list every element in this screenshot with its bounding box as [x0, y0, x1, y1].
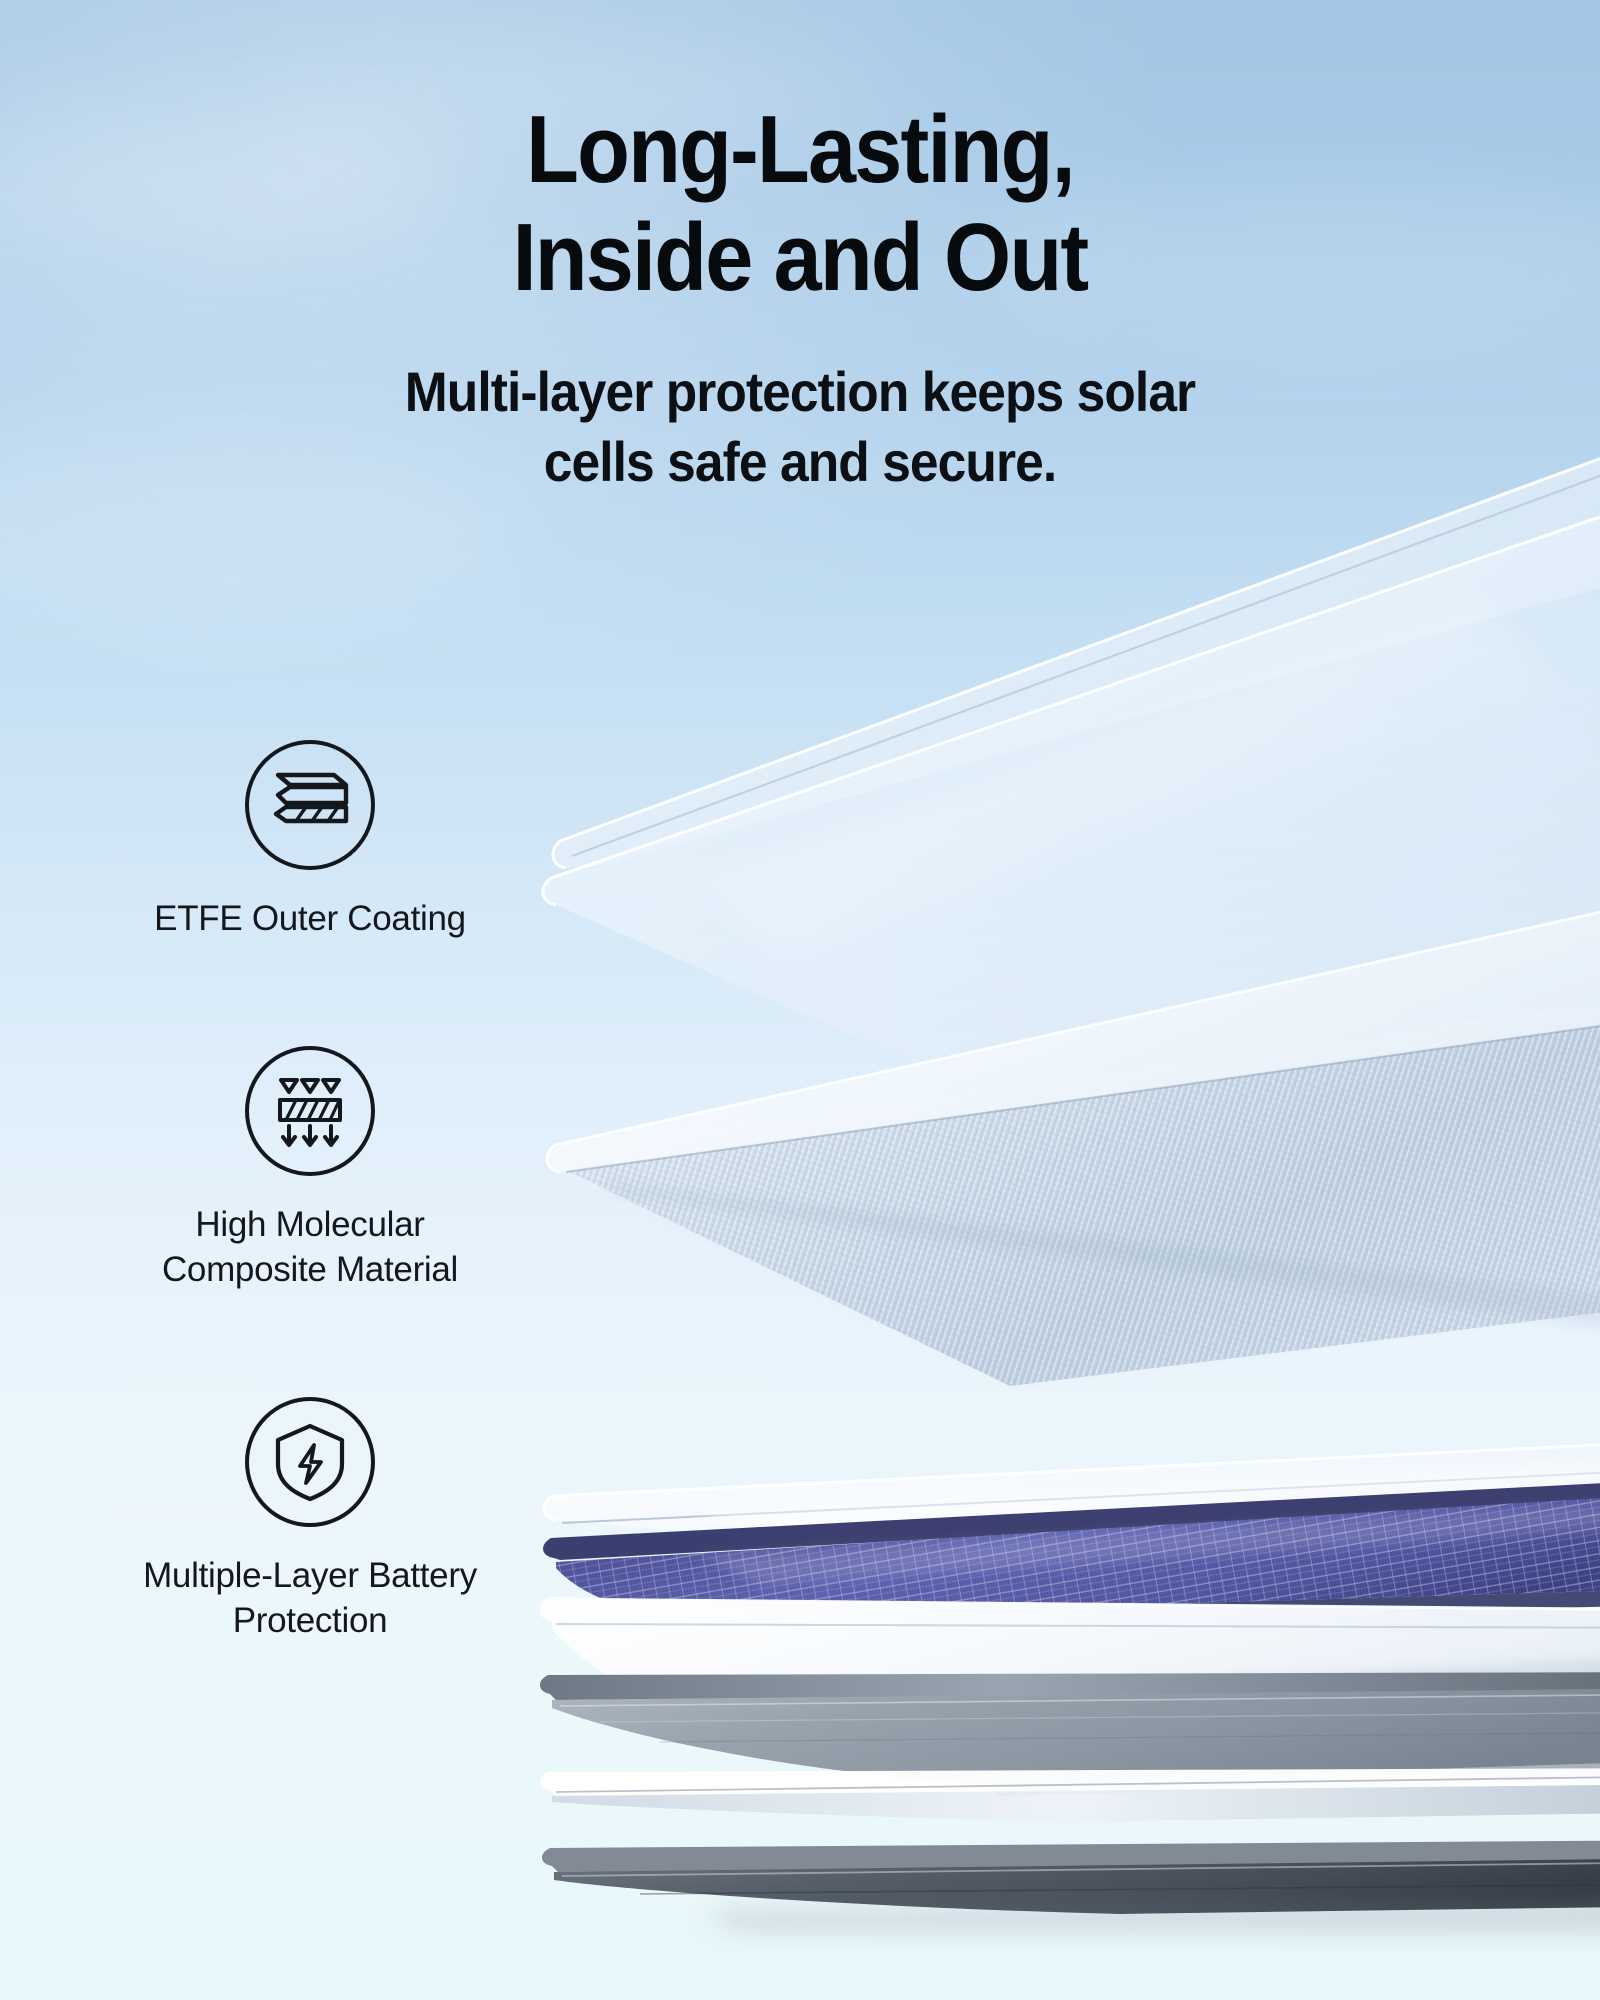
- page-title: Long-Lasting, Inside and Out: [80, 96, 1520, 313]
- page-subtitle: Multi-layer protection keeps solar cells…: [64, 357, 1536, 497]
- subhead-line-2: cells safe and secure.: [64, 427, 1536, 497]
- shield-bolt-icon: [245, 1397, 375, 1527]
- feature-list: ETFE Outer Coating: [100, 740, 520, 1644]
- layer-thin-film: [540, 1768, 1600, 1822]
- feature-label: ETFE Outer Coating: [100, 896, 520, 942]
- layered-sheets-icon: [245, 740, 375, 870]
- feature-label: High Molecular Composite Material: [100, 1202, 520, 1293]
- layer-solar-cell-array: [543, 1478, 1600, 1632]
- poster-canvas: Long-Lasting, Inside and Out Multi-layer…: [0, 0, 1600, 2000]
- feature-item-multiple-layer-battery-protection: Multiple-Layer Battery Protection: [100, 1397, 520, 1644]
- feature-item-etfe-outer-coating: ETFE Outer Coating: [100, 740, 520, 942]
- headline-line-1: Long-Lasting,: [80, 96, 1520, 204]
- layer-etfe-top-sheet: [553, 455, 1600, 868]
- headline-line-2: Inside and Out: [80, 204, 1520, 312]
- layer-support-plate-gray: [540, 1672, 1600, 1796]
- material-absorption-icon: [245, 1046, 375, 1176]
- cloud-wisp: [1050, 620, 1600, 840]
- layer-encapsulant-sheet: [544, 1440, 1600, 1560]
- feature-item-high-molecular-composite-material: High Molecular Composite Material: [100, 1046, 520, 1293]
- header: Long-Lasting, Inside and Out Multi-layer…: [0, 96, 1600, 497]
- feature-label: Multiple-Layer Battery Protection: [100, 1553, 520, 1644]
- subhead-line-1: Multi-layer protection keeps solar: [64, 357, 1536, 427]
- layer-composite-mesh-sheet: [547, 890, 1600, 1390]
- layer-base-plate-dark: [542, 1840, 1600, 1932]
- layer-backsheet-white: [541, 1599, 1600, 1762]
- layer-etfe-second-sheet: [543, 510, 1600, 1180]
